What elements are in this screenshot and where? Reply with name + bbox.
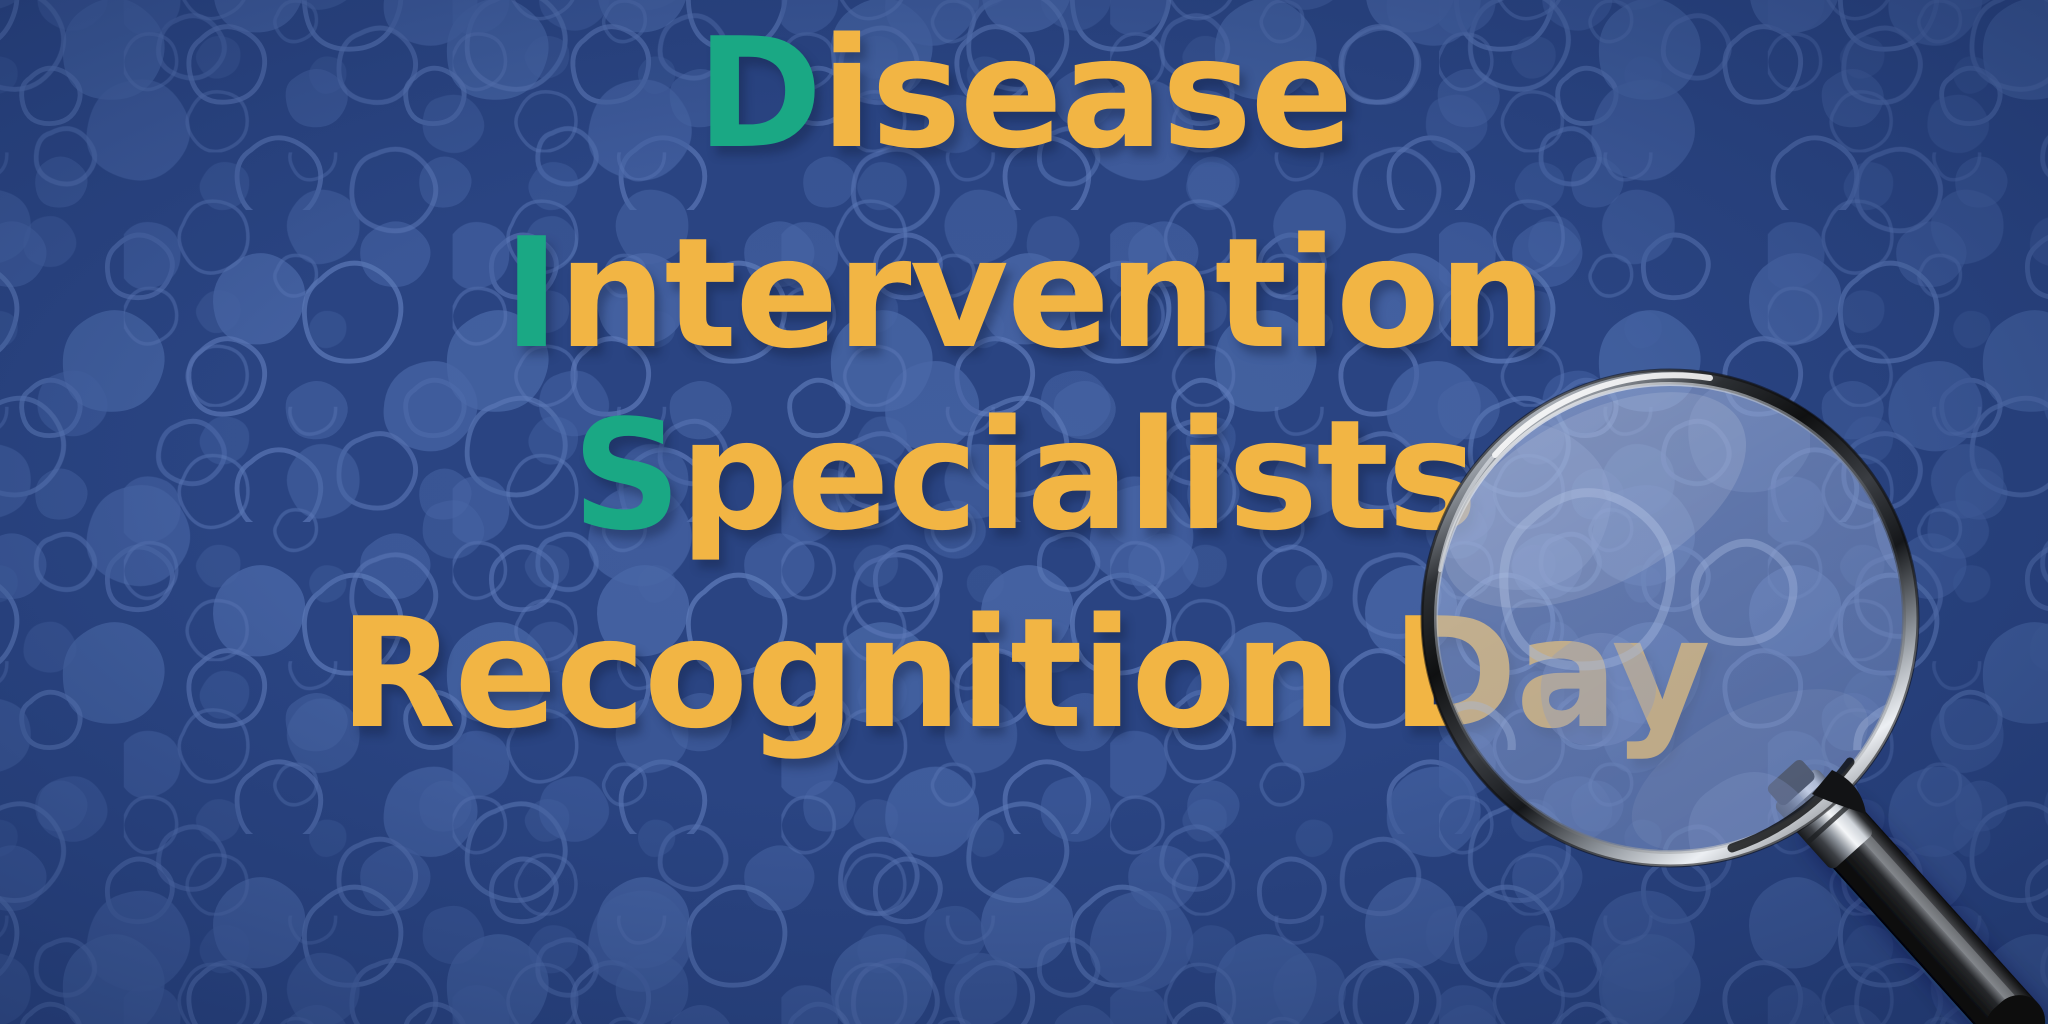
headline-initial-d: D: [696, 5, 820, 182]
headline-initial-s: S: [572, 387, 680, 564]
headline-line-2: Intervention: [0, 218, 2048, 370]
magnifying-glass-icon: [1380, 350, 2048, 1024]
headline-rest-3: pecialists: [680, 387, 1476, 564]
headline-initial-i: I: [503, 205, 558, 382]
headline-rest-1: isease: [821, 5, 1352, 182]
headline-line-1: Disease: [0, 18, 2048, 170]
recognition-day-banner: Disease Intervention Specialists Recogni…: [0, 0, 2048, 1024]
